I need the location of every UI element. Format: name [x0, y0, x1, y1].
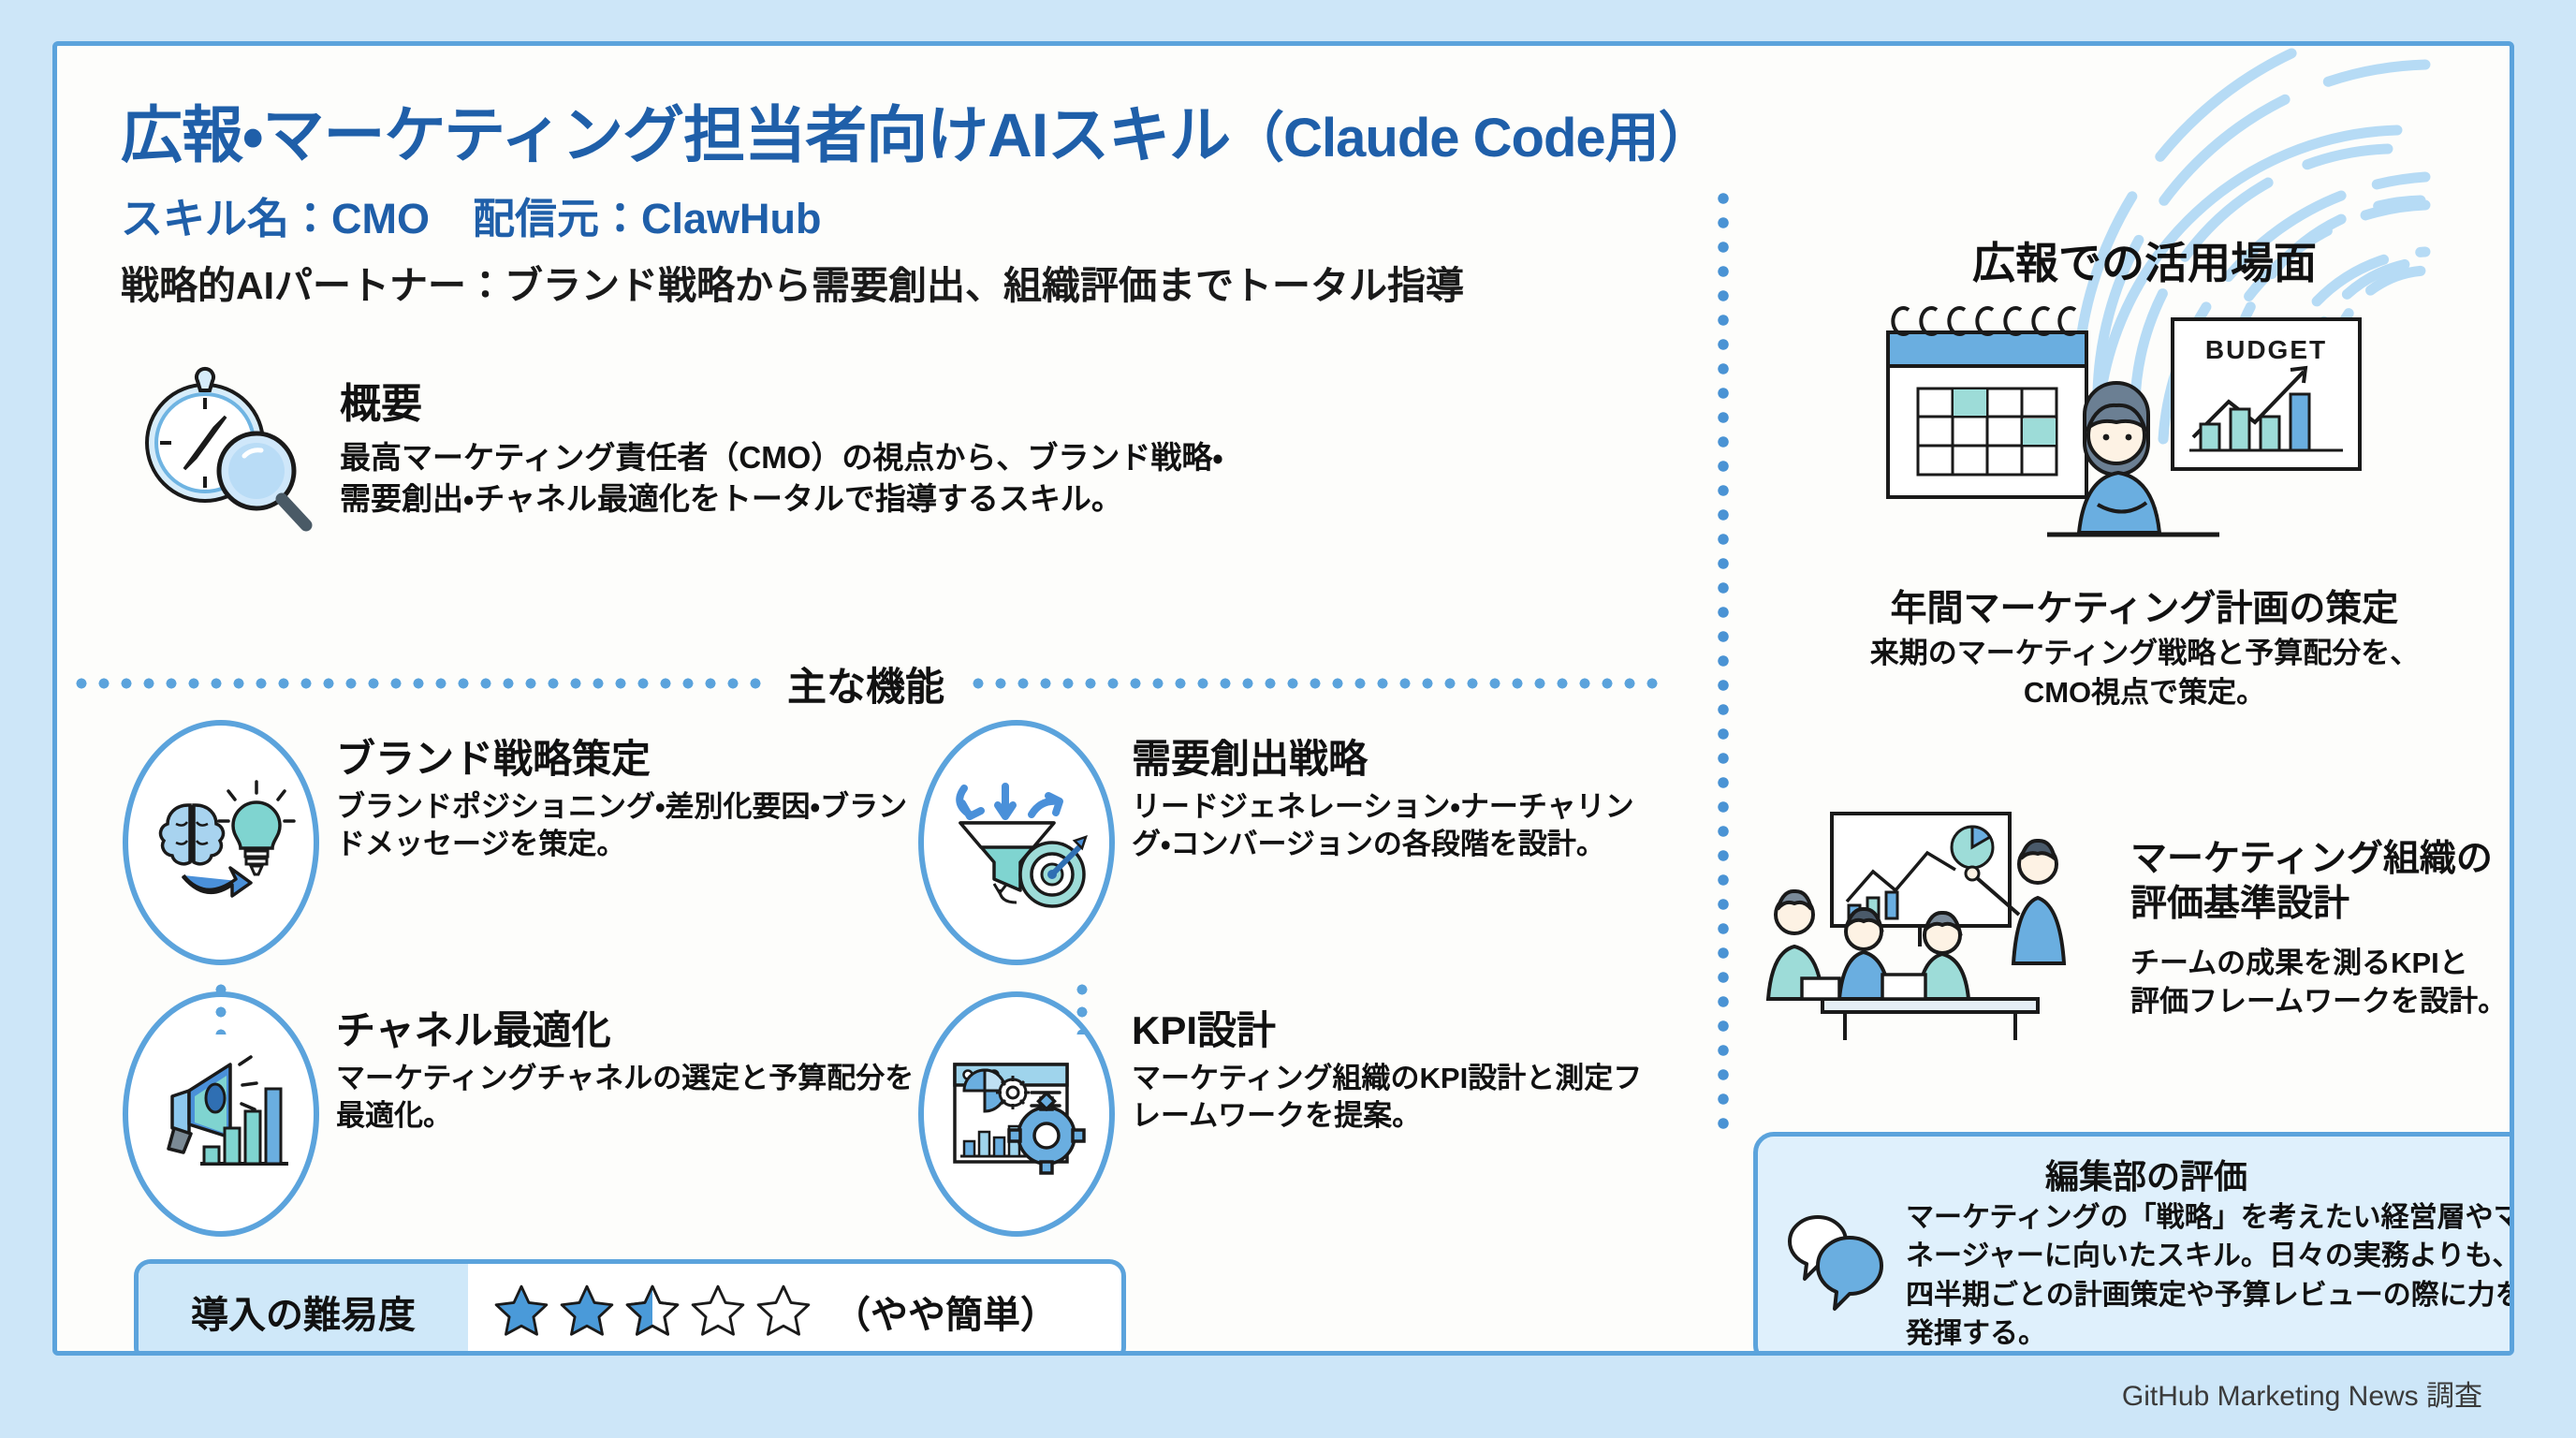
tagline: 戦略的AIパートナー：ブランド戦略から需要創出、組織評価までトータル指導: [121, 254, 1464, 310]
feature-body: リードジェネレーション・ナーチャリング・コンバージョンの各段階を設計。: [1132, 788, 1658, 864]
difficulty-bar: 導入の難易度 （やや簡単）: [134, 1259, 1126, 1356]
speech-bubbles-icon: [1777, 1204, 1898, 1316]
overview-heading: 概要: [340, 370, 1223, 430]
team-meeting-presentation-icon: [1742, 804, 2116, 1057]
feature-item: KPI設計 マーケティング組織のKPI設計と測定フレームワークを提案。: [918, 991, 1658, 1263]
star-empty-icon: [754, 1283, 812, 1341]
calendar-budget-person-icon: BUDGET: [1864, 297, 2407, 559]
page-title: 広報・マーケティング担当者向けAIスキル（Claude Code用）: [121, 85, 1712, 175]
usecase-body-line2: 評価フレームワークを設計。: [2130, 983, 2514, 1021]
feature-item: ブランド戦略策定 ブランドポジショニング・差別化要因・ブランドメッセージを策定。: [123, 720, 918, 991]
megaphone-bars-icon: [146, 1044, 296, 1184]
dotted-line-left: [70, 677, 765, 690]
funnel-target-icon: [942, 771, 1091, 914]
usecase-title-line2: 評価基準設計: [2130, 882, 2514, 927]
overview-text: 概要 最高マーケティング責任者（CMO）の視点から、ブランド戦略・ 需要創出・チ…: [340, 360, 1223, 538]
footer-credit: GitHub Marketing News 調査: [0, 1372, 2527, 1414]
connector-dots-left: [214, 978, 227, 1034]
skill-meta-line: スキル名：CMO配信元：ClawHub: [121, 184, 822, 245]
star-empty-icon: [689, 1283, 747, 1341]
overview-body-line2: 需要創出・チャネル最適化をトータルで指導するスキル。: [340, 478, 1223, 520]
publisher-name: 配信元：ClawHub: [473, 195, 822, 242]
dotted-line-right: [967, 677, 1661, 690]
feature-title: 需要創出戦略: [1132, 727, 1658, 785]
connector-dots-right: [1076, 978, 1089, 1034]
feature-body: マーケティングチャネルの選定と予算配分を最適化。: [336, 1060, 918, 1136]
usecase-body-line2: CMO視点で策定。: [1756, 673, 2514, 712]
usecase-body-line1: 来期のマーケティング戦略と予算配分を、: [1756, 634, 2514, 673]
feature-icon-frame: [123, 720, 319, 965]
brain-lightbulb-icon: [146, 772, 296, 913]
feature-title: KPI設計: [1132, 999, 1658, 1056]
feature-body: マーケティング組織のKPI設計と測定フレームワークを提案。: [1132, 1060, 1658, 1136]
feature-icon-frame: [918, 720, 1115, 965]
usecase-body: 来期のマーケティング戦略と予算配分を、 CMO視点で策定。: [1756, 634, 2514, 712]
feature-title: チャネル最適化: [336, 999, 918, 1056]
infographic-page: 広報・マーケティング担当者向けAIスキル（Claude Code用） スキル名：…: [0, 0, 2576, 1438]
title-main: 広報・マーケティング担当者向けAIスキル: [121, 100, 1230, 169]
feature-text: 需要創出戦略 リードジェネレーション・ナーチャリング・コンバージョンの各段階を設…: [1132, 720, 1658, 991]
review-body: マーケティングの「戦略」を考えたい経営層やマネージャーに向いたスキル。日々の実務…: [1906, 1198, 2514, 1354]
feature-text: KPI設計 マーケティング組織のKPI設計と測定フレームワークを提案。: [1132, 991, 1658, 1263]
difficulty-label: 導入の難易度: [139, 1264, 468, 1356]
feature-title: ブランド戦略策定: [336, 727, 918, 785]
title-paren: （Claude Code用）: [1230, 108, 1712, 169]
feature-text: チャネル最適化 マーケティングチャネルの選定と予算配分を最適化。: [336, 991, 918, 1263]
overview-body-line1: 最高マーケティング責任者（CMO）の視点から、ブランド戦略・: [340, 437, 1223, 478]
usecases-heading: 広報での活用場面: [1756, 229, 2514, 291]
usecase-title: 年間マーケティング計画の策定: [1756, 580, 2514, 632]
compass-magnifier-icon: [132, 360, 319, 538]
usecase-title-line1: マーケティング組織の: [2130, 837, 2514, 882]
usecase-body-line1: チームの成果を測るKPIと: [2130, 945, 2514, 983]
difficulty-stars: [492, 1283, 812, 1341]
star-filled-icon: [558, 1283, 616, 1341]
usecase-body: チームの成果を測るKPIと 評価フレームワークを設計。: [2130, 945, 2514, 1021]
editorial-review-box: 編集部の評価 マーケティングの「戦略」を考えたい経営層やマネージャーに向いたスキ…: [1753, 1132, 2514, 1356]
feature-text: ブランド戦略策定 ブランドポジショニング・差別化要因・ブランドメッセージを策定。: [336, 720, 918, 991]
feature-item: 需要創出戦略 リードジェネレーション・ナーチャリング・コンバージョンの各段階を設…: [918, 720, 1658, 991]
svg-text:BUDGET: BUDGET: [2205, 335, 2327, 364]
dashboard-gear-icon: [942, 1044, 1091, 1184]
usecase-title: マーケティング組織の 評価基準設計: [2130, 837, 2514, 926]
main-card: 広報・マーケティング担当者向けAIスキル（Claude Code用） スキル名：…: [52, 41, 2514, 1356]
difficulty-note: （やや簡単）: [833, 1284, 1058, 1339]
feature-item: チャネル最適化 マーケティングチャネルの選定と予算配分を最適化。: [123, 991, 918, 1263]
features-grid: ブランド戦略策定 ブランドポジショニング・差別化要因・ブランドメッセージを策定。: [123, 720, 1658, 1263]
skill-name: スキル名：CMO: [121, 195, 430, 242]
vertical-dotted-divider: [1717, 186, 1730, 1132]
star-filled-icon: [492, 1283, 550, 1341]
features-divider: 主な機能: [70, 651, 1661, 716]
features-divider-label: 主な機能: [778, 655, 954, 712]
review-title: 編集部の評価: [1758, 1150, 2514, 1198]
overview-section: 概要 最高マーケティング責任者（CMO）の視点から、ブランド戦略・ 需要創出・チ…: [132, 360, 1630, 538]
star-half-icon: [623, 1283, 681, 1341]
feature-body: ブランドポジショニング・差別化要因・ブランドメッセージを策定。: [336, 788, 918, 864]
